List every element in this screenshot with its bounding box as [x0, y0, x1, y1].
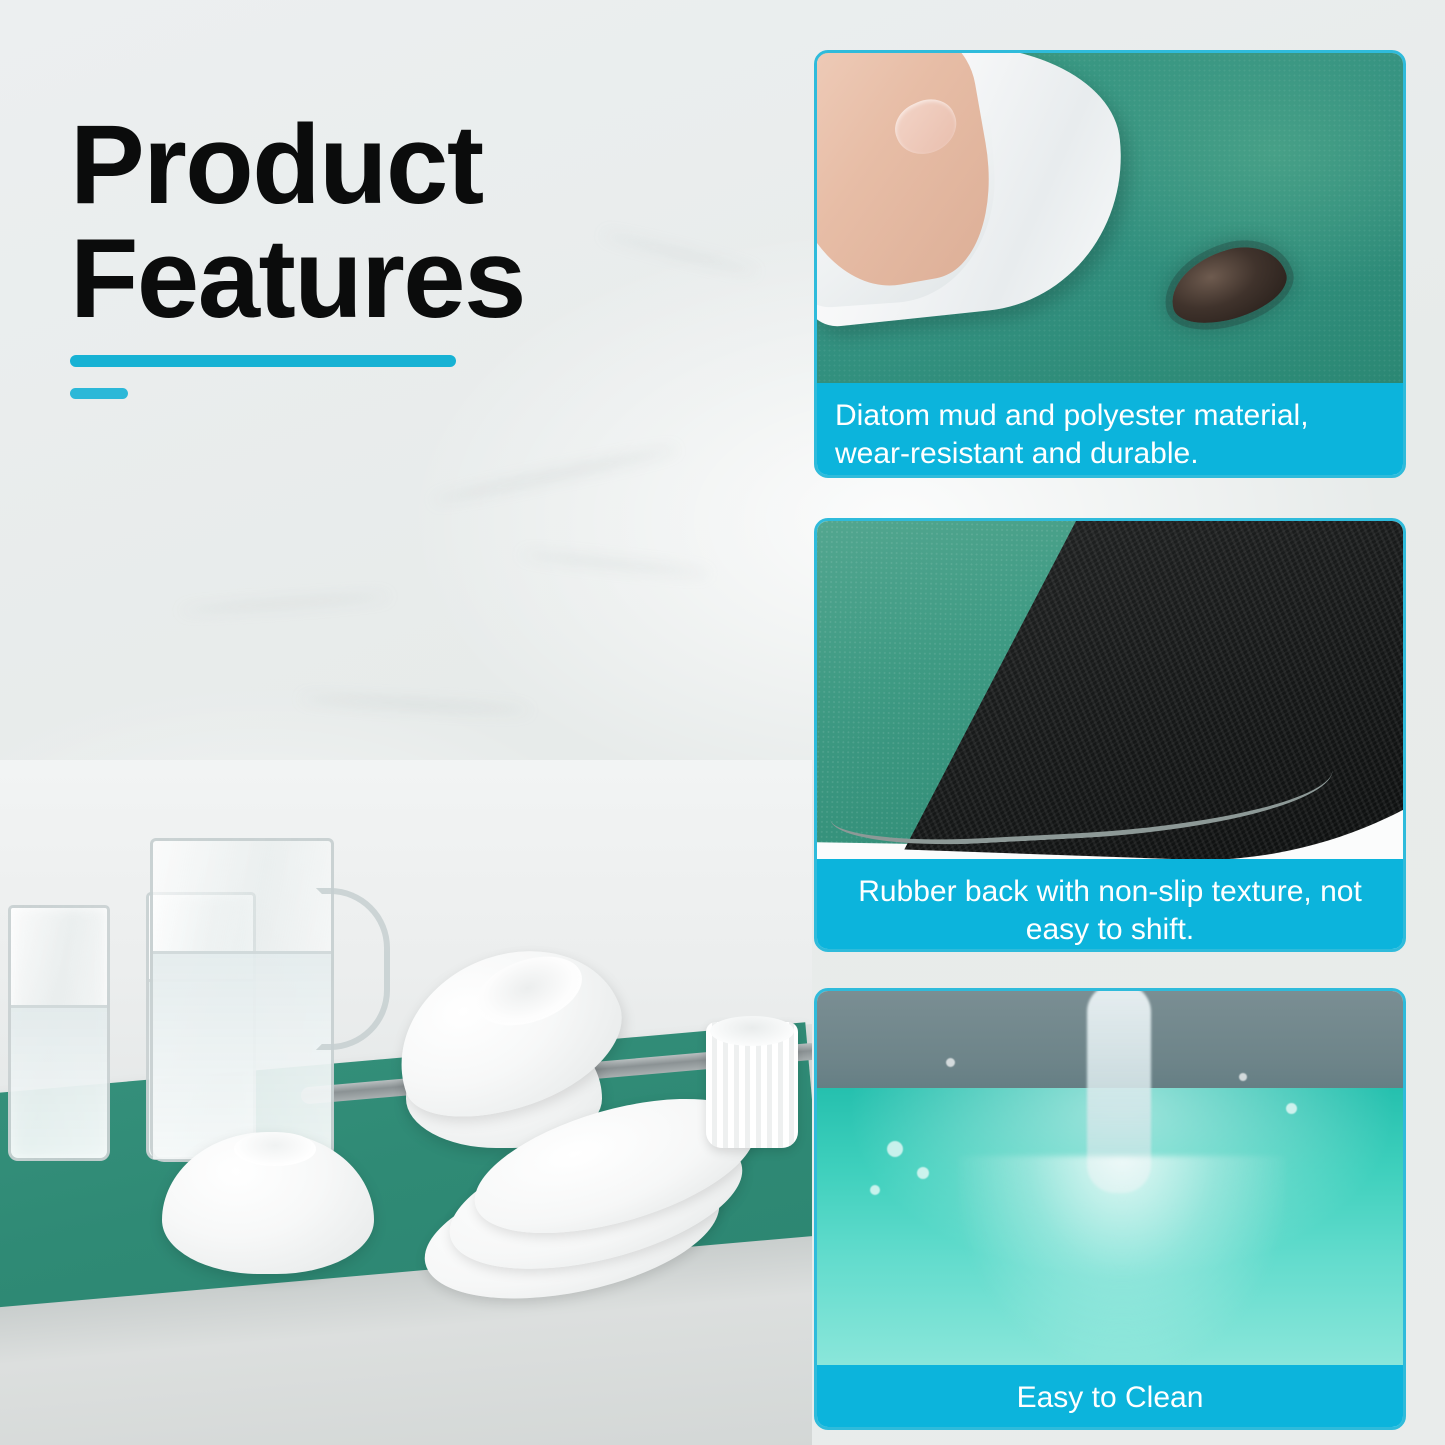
feature-panel-rubber-back: Rubber back with non-slip texture, not e… [814, 518, 1406, 952]
water-bubble [917, 1167, 929, 1179]
infographic-page: Product Features [0, 0, 1445, 1445]
feature-caption-rubber-back: Rubber back with non-slip texture, not e… [817, 859, 1403, 952]
feature-panel-material: Diatom mud and polyester material, wear-… [814, 50, 1406, 478]
feature-photo-easy-clean [817, 991, 1403, 1365]
feature-caption-material: Diatom mud and polyester material, wear-… [817, 383, 1403, 478]
background-vein [432, 444, 679, 506]
title-accent-bar-long [70, 355, 456, 367]
page-title-line-2: Features [70, 222, 710, 336]
water-bubble [887, 1141, 903, 1157]
lifestyle-photo [0, 760, 812, 1445]
background-vein [180, 593, 390, 615]
feature-photo-material [817, 53, 1403, 383]
water-splash [958, 1156, 1286, 1365]
ramekin-rim [710, 1016, 794, 1046]
background-vein [300, 694, 530, 715]
feature-photo-rubber-back [817, 521, 1403, 859]
water-bubble [1286, 1103, 1297, 1114]
drinking-glass-left [8, 905, 110, 1161]
page-title: Product Features [70, 108, 710, 336]
feature-caption-easy-clean: Easy to Clean [817, 1365, 1403, 1430]
title-accent-bar-short [70, 388, 128, 399]
feature-panel-easy-clean: Easy to Clean [814, 988, 1406, 1430]
white-bowl-foot-ring [234, 1132, 316, 1166]
glass-pitcher [150, 838, 334, 1162]
background-vein [520, 550, 710, 578]
page-title-line-1: Product [70, 108, 710, 222]
